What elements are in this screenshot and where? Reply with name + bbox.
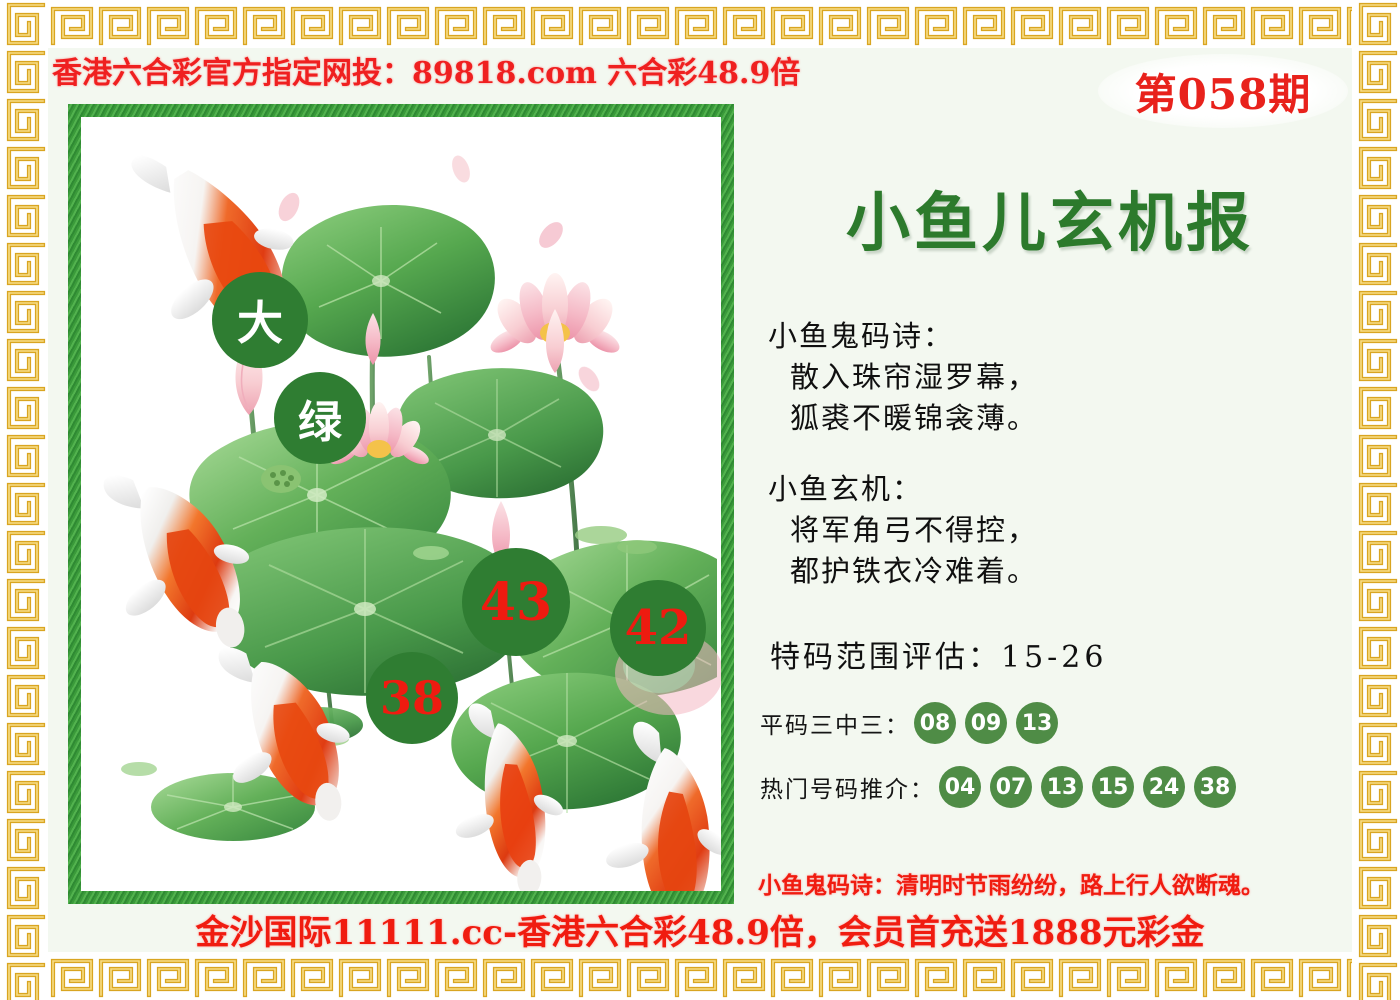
hot-number-ball: 15 bbox=[1092, 766, 1134, 808]
verse-one-heading: 小鱼鬼码诗： bbox=[768, 316, 1348, 357]
verse-one-line1: 散入珠帘湿罗幕， bbox=[768, 357, 1348, 398]
poster-root: 大 绿 43 42 38 香港六合彩官方指定网投：89818.com 六合彩48… bbox=[0, 0, 1400, 1000]
verse-one-line2: 狐裘不暖锦衾薄。 bbox=[768, 398, 1348, 439]
tag-circle-42: 42 bbox=[610, 580, 706, 676]
pingma-ball: 08 bbox=[914, 702, 956, 744]
hot-number-ball: 13 bbox=[1041, 766, 1083, 808]
hot-number-ball: 38 bbox=[1194, 766, 1236, 808]
issue-badge: 第058期 bbox=[1098, 54, 1348, 128]
promo-header-text: 香港六合彩官方指定网投：89818.com 六合彩48.9倍 bbox=[52, 48, 800, 92]
page-title: 小鱼儿玄机报 bbox=[752, 172, 1348, 264]
tag-circle-label: 38 bbox=[380, 671, 444, 725]
verse-two-line1: 将军角弓不得控， bbox=[768, 510, 1348, 551]
hot-numbers-label: 热门号码推介： bbox=[760, 770, 935, 804]
verse-block-one: 小鱼鬼码诗： 散入珠帘湿罗幕， 狐裘不暖锦衾薄。 bbox=[752, 316, 1348, 439]
special-range-label: 特码范围评估： bbox=[770, 640, 1001, 675]
pingma-ball: 13 bbox=[1016, 702, 1058, 744]
hot-numbers-row: 热门号码推介： 04 07 13 15 24 38 bbox=[752, 766, 1348, 808]
special-range-row: 特码范围评估：15-26 bbox=[752, 632, 1348, 676]
border-bottom bbox=[0, 952, 1400, 1000]
pingma-ball: 09 bbox=[965, 702, 1007, 744]
tag-circle-label: 大 bbox=[237, 287, 283, 353]
tag-circle-label: 42 bbox=[625, 600, 692, 656]
footer-promo-text: 金沙国际11111.cc-香港六合彩48.9倍，会员首充送1888元彩金 bbox=[0, 905, 1400, 954]
tag-circle-label: 43 bbox=[480, 572, 552, 633]
hot-number-ball: 24 bbox=[1143, 766, 1185, 808]
special-range-value: 15-26 bbox=[1001, 640, 1107, 675]
issue-number-label: 第058期 bbox=[1135, 61, 1312, 122]
border-top bbox=[0, 0, 1400, 48]
lotus-pond-illustration bbox=[81, 117, 721, 891]
pingma-row: 平码三中三： 08 09 13 bbox=[752, 702, 1348, 744]
verse-two-line2: 都护铁衣冷难着。 bbox=[768, 551, 1348, 592]
border-left bbox=[0, 0, 48, 1000]
tag-circle-43: 43 bbox=[462, 548, 570, 656]
tag-circle-lv: 绿 bbox=[274, 372, 366, 464]
pingma-label: 平码三中三： bbox=[760, 706, 910, 740]
verse-two-heading: 小鱼玄机： bbox=[768, 469, 1348, 510]
illustration-canvas bbox=[81, 117, 721, 891]
border-right bbox=[1352, 0, 1400, 1000]
hot-number-ball: 07 bbox=[990, 766, 1032, 808]
verse-block-two: 小鱼玄机： 将军角弓不得控， 都护铁衣冷难着。 bbox=[752, 469, 1348, 592]
illustration-panel bbox=[68, 104, 734, 904]
hot-number-ball: 04 bbox=[939, 766, 981, 808]
tag-circle-38: 38 bbox=[366, 652, 458, 744]
lotus-seed-pod bbox=[261, 465, 301, 493]
tag-circle-da: 大 bbox=[212, 272, 308, 368]
content-column: 小鱼儿玄机报 小鱼鬼码诗： 散入珠帘湿罗幕， 狐裘不暖锦衾薄。 小鱼玄机： 将军… bbox=[752, 110, 1348, 900]
tag-circle-label: 绿 bbox=[298, 386, 342, 450]
riddle-note: 小鱼鬼码诗：清明时节雨纷纷，路上行人欲断魂。 bbox=[752, 866, 1348, 900]
